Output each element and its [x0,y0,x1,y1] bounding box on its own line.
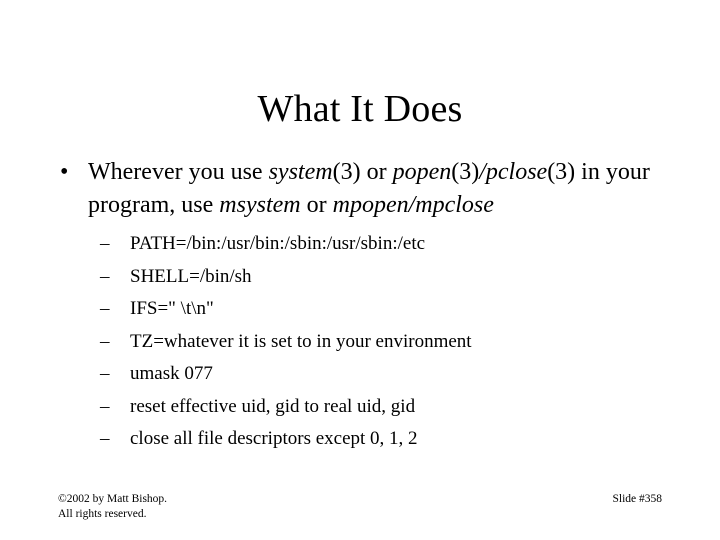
bullet-text-run-1: system [269,159,333,185]
sub-bullet-item: –SHELL=/bin/sh [100,261,670,294]
sub-bullet-item: –reset effective uid, gid to real uid, g… [100,391,670,424]
bullet-text-run-5: / [479,159,486,185]
sub-bullet-item: –IFS=" \t\n" [100,293,670,326]
bullet-dot-icon: • [60,156,68,189]
sub-bullet-text: PATH=/bin:/usr/bin:/sbin:/usr/sbin:/etc [130,233,425,254]
sub-bullet-list: –PATH=/bin:/usr/bin:/sbin:/usr/sbin:/etc… [56,228,670,456]
sub-bullet-item: –TZ=whatever it is set to in your enviro… [100,326,670,359]
sub-bullet-dash-icon: – [100,423,110,456]
sub-bullet-item: –close all file descriptors except 0, 1,… [100,423,670,456]
page-title: What It Does [40,87,680,131]
bullet-text-run-6: pclose [486,159,547,185]
bullet-level1-text: Wherever you use system(3) or popen(3)/p… [88,156,670,222]
footer-copyright-line2: All rights reserved. [58,507,167,522]
sub-bullet-dash-icon: – [100,228,110,261]
sub-bullet-dash-icon: – [100,391,110,424]
sub-bullet-dash-icon: – [100,293,110,326]
footer-copyright: ©2002 by Matt Bishop. All rights reserve… [58,492,167,522]
sub-bullet-dash-icon: – [100,326,110,359]
bullet-text-run-10: mpopen/mpclose [333,192,494,218]
bullet-text-run-3: popen [393,159,452,185]
footer-slide-number-container: Slide #358 [612,492,662,507]
slide-number: Slide #358 [612,492,662,507]
bullet-text-run-8: msystem [219,192,300,218]
sub-bullet-text: reset effective uid, gid to real uid, gi… [130,396,415,417]
sub-bullet-dash-icon: – [100,261,110,294]
bullet-text-run-4: (3) [451,159,479,185]
sub-bullet-text: TZ=whatever it is set to in your environ… [130,331,472,352]
footer-copyright-line1: ©2002 by Matt Bishop. [58,492,167,507]
sub-bullet-dash-icon: – [100,358,110,391]
bullet-text-run-9: or [301,192,333,218]
sub-bullet-text: IFS=" \t\n" [130,298,214,319]
bullet-level1: • Wherever you use system(3) or popen(3)… [56,156,670,222]
bullet-text-run-0: Wherever you use [88,159,269,185]
slide-body: • Wherever you use system(3) or popen(3)… [56,156,670,456]
sub-bullet-item: –umask 077 [100,358,670,391]
sub-bullet-text: close all file descriptors except 0, 1, … [130,428,418,449]
sub-bullet-text: SHELL=/bin/sh [130,266,252,287]
bullet-text-run-2: (3) or [333,159,393,185]
slide-canvas: What It Does • Wherever you use system(3… [0,0,720,540]
sub-bullet-text: umask 077 [130,363,213,384]
sub-bullet-item: –PATH=/bin:/usr/bin:/sbin:/usr/sbin:/etc [100,228,670,261]
